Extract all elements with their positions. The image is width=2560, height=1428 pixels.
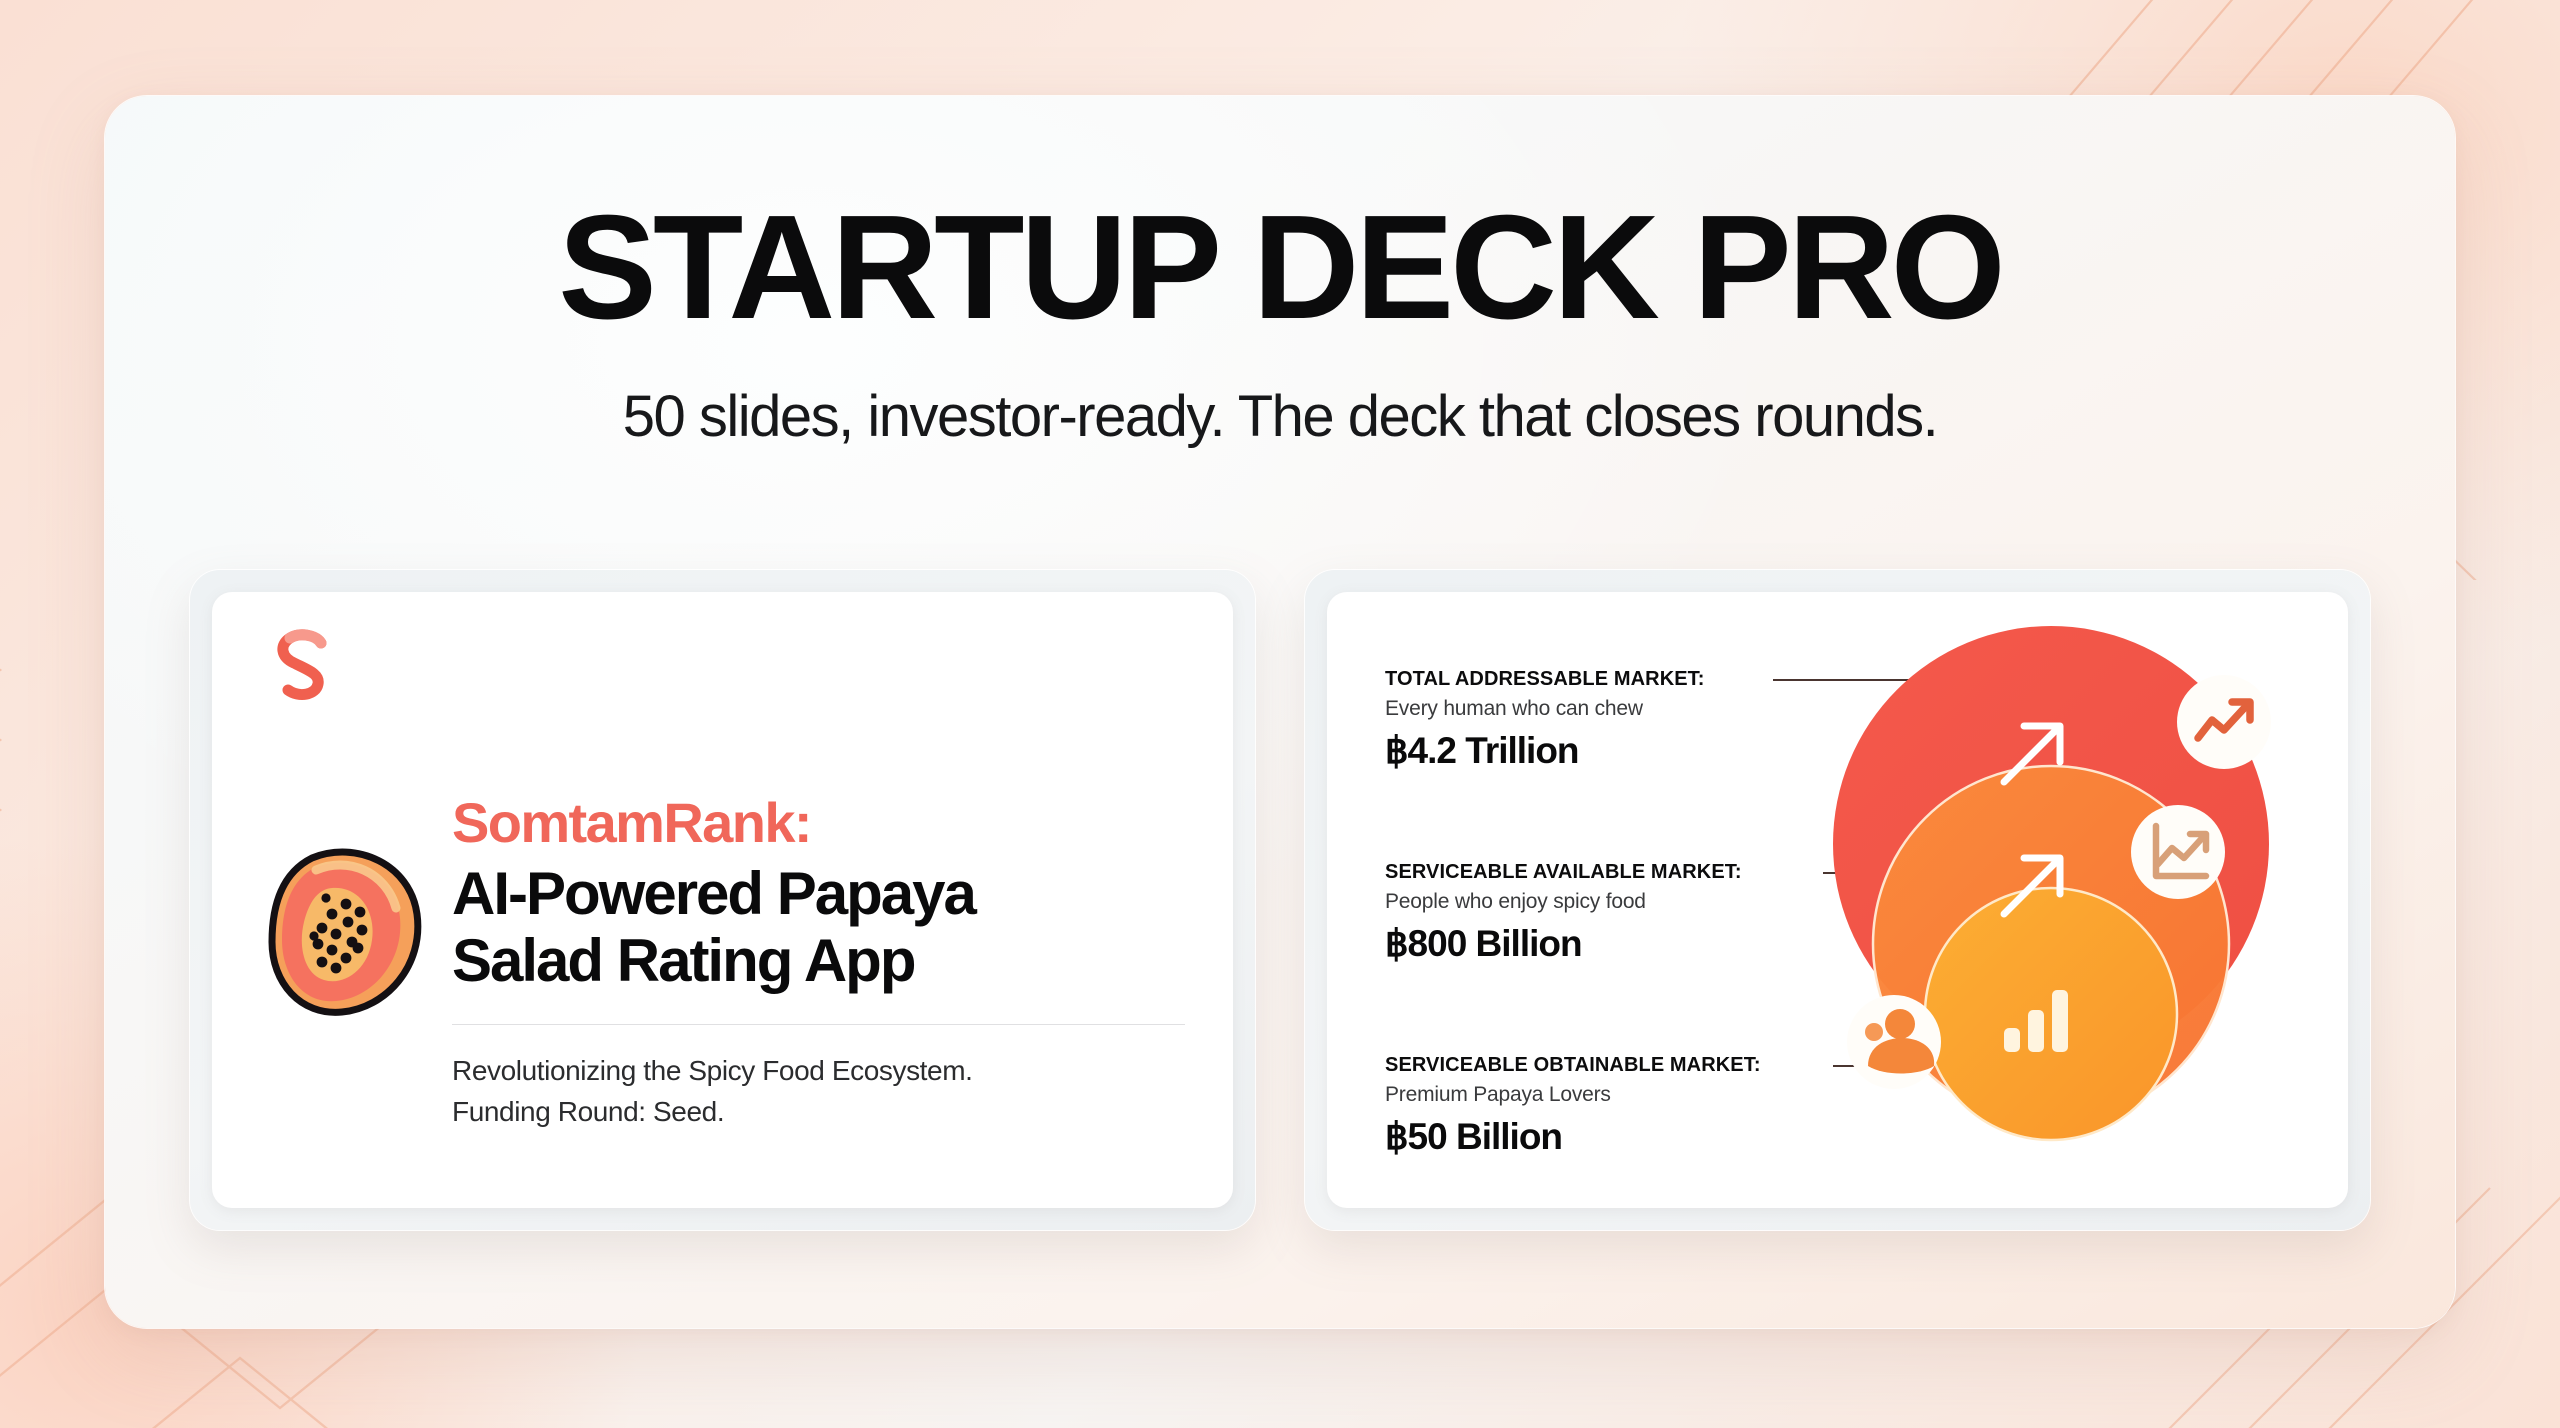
title-divider (452, 1024, 1185, 1025)
hero-header: STARTUP DECK PRO 50 slides, investor-rea… (105, 194, 2455, 451)
headline-line-2: Salad Rating App (452, 927, 1185, 994)
headline-line-1: AI-Powered Papaya (452, 860, 1185, 927)
papaya-half-icon (260, 836, 436, 1022)
page-title: STARTUP DECK PRO (105, 194, 2455, 342)
page-root: STARTUP DECK PRO 50 slides, investor-rea… (0, 0, 2560, 1428)
slide-preview-title[interactable]: SomtamRank: AI-Powered Papaya Salad Rati… (190, 570, 1255, 1230)
badge-trending-up (2177, 675, 2271, 769)
brand-name: SomtamRank: (452, 792, 1185, 854)
slide-preview-market[interactable]: TOTAL ADDRESSABLE MARKET: Every human wh… (1305, 570, 2370, 1230)
title-slide-body: SomtamRank: AI-Powered Papaya Salad Rati… (260, 788, 1185, 1132)
badge-user-group (1847, 995, 1941, 1089)
badge-chart-line (2131, 805, 2225, 899)
nested-circles-diagram (1766, 614, 2326, 1184)
tagline-line-2: Funding Round: Seed. (452, 1092, 1185, 1133)
tagline-line-1: Revolutionizing the Spicy Food Ecosystem… (452, 1051, 1185, 1092)
slide-canvas-market: TOTAL ADDRESSABLE MARKET: Every human wh… (1327, 592, 2348, 1208)
slide-previews: SomtamRank: AI-Powered Papaya Salad Rati… (190, 570, 2370, 1230)
market-size-chart: TOTAL ADDRESSABLE MARKET: Every human wh… (1327, 592, 2348, 1208)
somtam-s-logo-icon (268, 626, 340, 712)
circle-som (1925, 888, 2177, 1140)
title-slide-text: SomtamRank: AI-Powered Papaya Salad Rati… (452, 788, 1185, 1132)
page-subtitle: 50 slides, investor-ready. The deck that… (105, 384, 2455, 451)
main-panel: STARTUP DECK PRO 50 slides, investor-rea… (105, 96, 2455, 1328)
slide-canvas-title: SomtamRank: AI-Powered Papaya Salad Rati… (212, 592, 1233, 1208)
